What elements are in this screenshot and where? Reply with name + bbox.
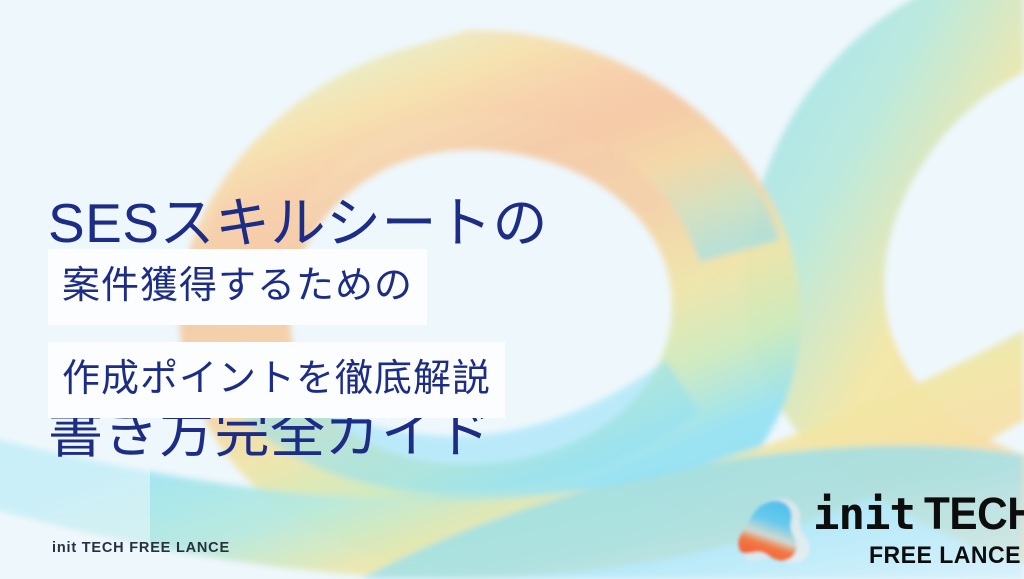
subtitle-line-2: 作成ポイントを徹底解説 [48,342,505,418]
logo-tagline: FREE LANCE [869,544,1021,568]
logo-primary-row: init TECH [813,491,1024,537]
logo-init-text: init [813,493,915,537]
subtitle-line-1: 案件獲得するための [48,249,427,325]
logo-lockup: init TECH FREE LANCE [737,487,997,571]
brand-small-text: init TECH FREE LANCE [52,540,230,556]
page-title-line-1: SESスキルシートの [48,188,548,258]
thumbnail-canvas: SESスキルシートの 書き方完全ガイド 案件獲得するための 作成ポイントを徹底解… [0,0,1024,579]
logo-blob-spacer [737,489,809,569]
logo-wordmark: init TECH FREE LANCE [813,491,1024,568]
logo-tech-text: TECH [924,491,1024,536]
